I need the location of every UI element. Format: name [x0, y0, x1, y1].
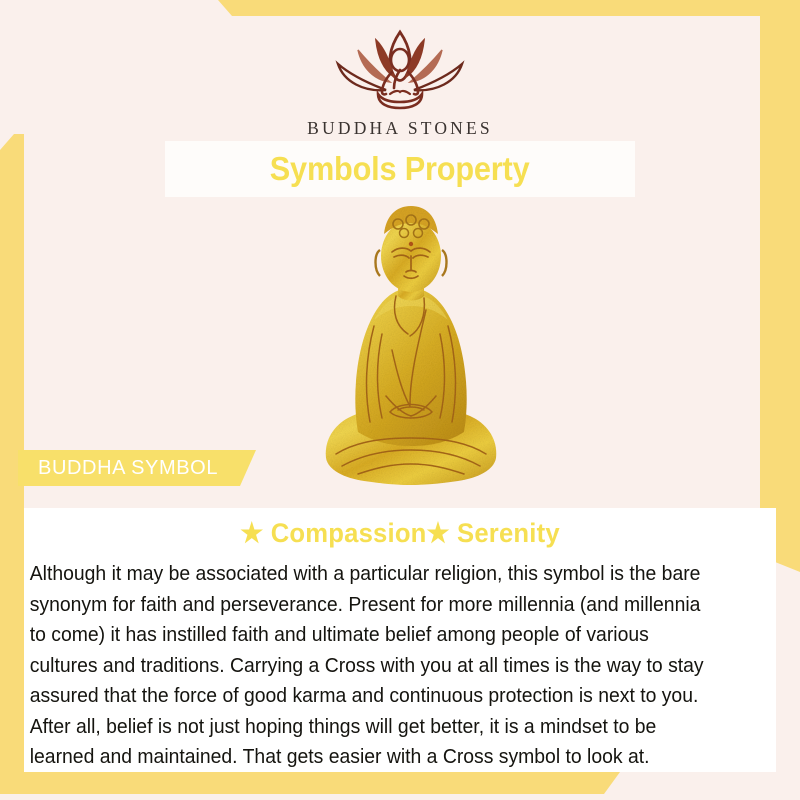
category-tag-label: BUDDHA SYMBOL: [18, 457, 218, 480]
brand-logo: BUDDHA STONES: [0, 20, 800, 139]
lotus-meditation-icon: [316, 20, 484, 116]
promo-banner: BUDDHA STONES Symbols Property: [0, 0, 800, 800]
description-paragraph: Although it may be associated with a par…: [24, 549, 742, 773]
page-title-bar: Symbols Property: [165, 141, 635, 197]
page-title: Symbols Property: [270, 150, 530, 188]
attributes-subhead: ★ Compassion★ Serenity: [43, 508, 757, 549]
buddha-statue-image: [318, 200, 504, 490]
decorative-band-top: [0, 0, 800, 16]
decorative-band-bottom: [0, 772, 640, 794]
description-card: ★ Compassion★ Serenity Although it may b…: [24, 508, 776, 772]
category-tag: BUDDHA SYMBOL: [18, 450, 256, 486]
brand-name: BUDDHA STONES: [0, 118, 800, 139]
